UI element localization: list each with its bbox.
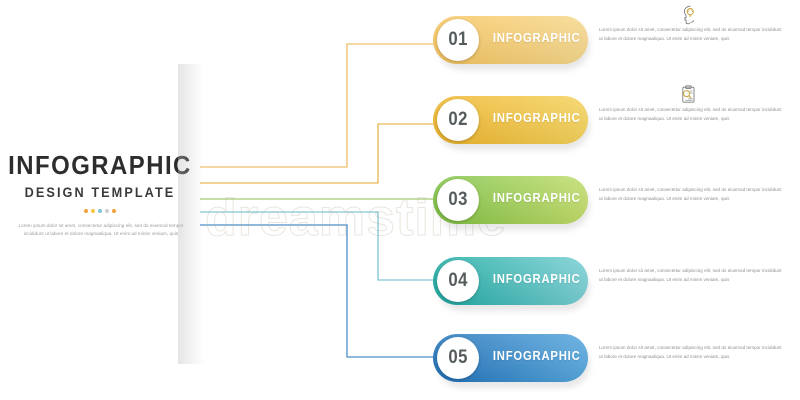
- bar-label: INFOGRAPHIC: [493, 111, 581, 125]
- row-description: Lorem ipsum dolor sit amet, consectetur …: [599, 26, 785, 44]
- row-description: Lorem ipsum dolor sit amet, consectetur …: [599, 106, 785, 124]
- infographic-row: 04INFOGRAPHICLorem ipsum dolor sit amet,…: [0, 241, 800, 321]
- step-number: 05: [448, 347, 467, 369]
- step-number-circle[interactable]: 03: [437, 179, 479, 221]
- infographic-row: 05INFOGRAPHICLorem ipsum dolor sit amet,…: [0, 318, 800, 398]
- infographic-row: 01INFOGRAPHICLorem ipsum dolor sit amet,…: [0, 0, 800, 80]
- step-number-circle[interactable]: 01: [437, 19, 479, 61]
- row-description: Lorem ipsum dolor sit amet, consectetur …: [599, 267, 785, 285]
- infographic-row: 03INFOGRAPHICLorem ipsum dolor sit amet,…: [0, 160, 800, 240]
- bar-label: INFOGRAPHIC: [493, 191, 581, 205]
- infographic-row: 02INFOGRAPHICLorem ipsum dolor sit amet,…: [0, 80, 800, 160]
- step-number: 04: [448, 270, 467, 292]
- row-description: Lorem ipsum dolor sit amet, consectetur …: [599, 344, 785, 362]
- clipboard-search-icon: [676, 84, 700, 106]
- infographic-canvas: INFOGRAPHIC DESIGN TEMPLATE Lorem ipsum …: [0, 0, 800, 400]
- step-number: 01: [448, 29, 467, 51]
- bar-label: INFOGRAPHIC: [493, 272, 581, 286]
- step-number-circle[interactable]: 04: [437, 260, 479, 302]
- row-description: Lorem ipsum dolor sit amet, consectetur …: [599, 186, 785, 204]
- step-number: 02: [448, 109, 467, 131]
- head-lightbulb-icon: [676, 4, 700, 26]
- bar-label: INFOGRAPHIC: [493, 349, 581, 363]
- step-number: 03: [448, 189, 467, 211]
- step-number-circle[interactable]: 05: [437, 337, 479, 379]
- step-number-circle[interactable]: 02: [437, 99, 479, 141]
- bar-label: INFOGRAPHIC: [493, 31, 581, 45]
